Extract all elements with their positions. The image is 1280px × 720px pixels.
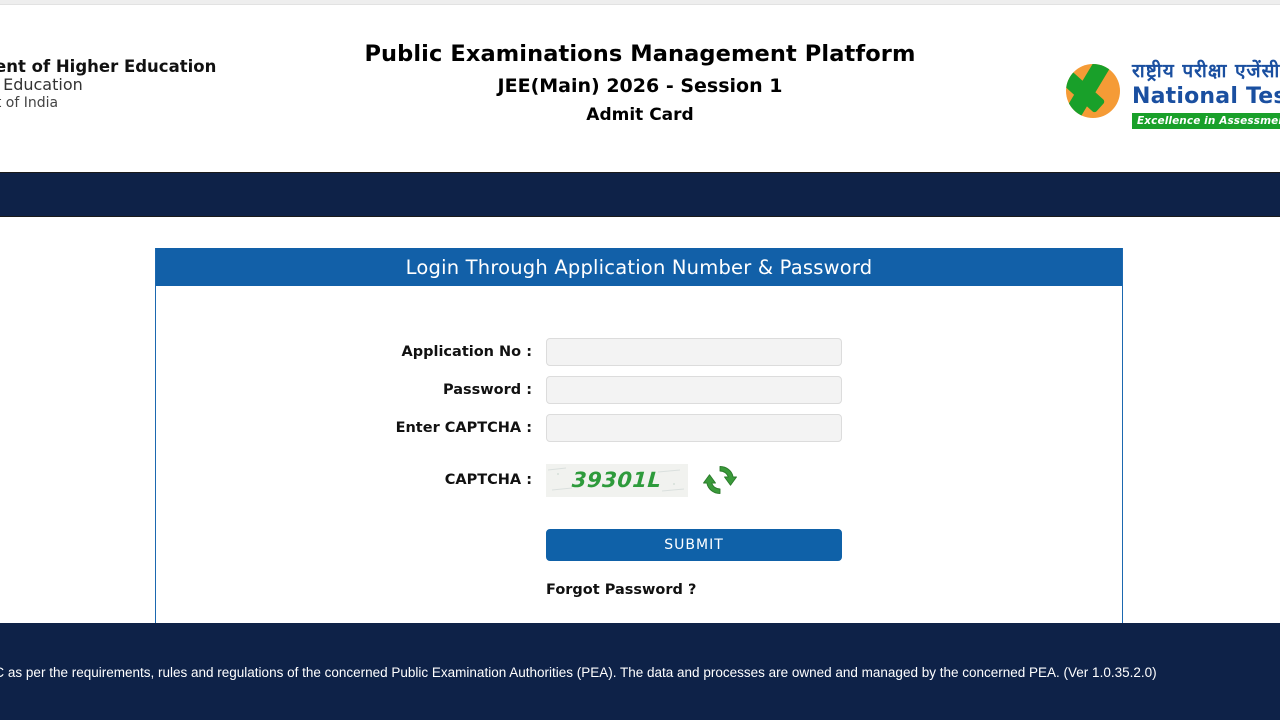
exam-name: JEE(Main) 2026 - Session 1	[240, 75, 1040, 97]
page-header: Department of Higher Education Ministry …	[0, 5, 1280, 167]
forgot-password-row: Forgot Password ?	[156, 579, 1122, 598]
enter-captcha-input[interactable]	[546, 414, 842, 442]
page-root: Department of Higher Education Ministry …	[0, 0, 1280, 720]
submit-button[interactable]: SUBMIT	[546, 529, 842, 561]
submit-row: SUBMIT	[156, 529, 1122, 561]
application-no-label: Application No :	[156, 344, 546, 360]
nta-branding: राष्ट्रीय परीक्षा एजेंसी National Testin…	[1062, 57, 1280, 147]
password-row: Password :	[156, 376, 1122, 404]
captcha-display-row: CAPTCHA : 39301L	[156, 462, 1122, 498]
captcha-label: CAPTCHA :	[156, 472, 546, 488]
nta-text-block: राष्ट्रीय परीक्षा एजेंसी National Testin…	[1132, 57, 1280, 129]
nta-check-emblem-icon	[1062, 60, 1124, 122]
login-form: Application No : Password : Enter CAPTCH…	[156, 286, 1122, 598]
org-line-2: Ministry of Education	[0, 76, 214, 95]
login-panel-title: Login Through Application Number & Passw…	[156, 248, 1122, 286]
org-line-3: Government of India	[0, 95, 214, 112]
nta-hindi-name: राष्ट्रीय परीक्षा एजेंसी	[1132, 57, 1280, 83]
login-panel: Login Through Application Number & Passw…	[155, 248, 1123, 648]
page-title: Public Examinations Management Platform	[240, 41, 1040, 67]
main-navbar[interactable]	[0, 172, 1280, 217]
org-line-1: Department of Higher Education	[0, 57, 214, 76]
ministry-branding: Department of Higher Education Ministry …	[0, 57, 214, 112]
captcha-code-text: 39301L	[571, 468, 662, 492]
nta-tagline: Excellence in Assessment	[1132, 113, 1280, 129]
header-title-block: Public Examinations Management Platform …	[240, 41, 1040, 125]
enter-captcha-label: Enter CAPTCHA :	[156, 420, 546, 436]
password-label: Password :	[156, 382, 546, 398]
content-area: Login Through Application Number & Passw…	[0, 218, 1280, 623]
forgot-password-link[interactable]: Forgot Password ?	[546, 582, 696, 598]
application-no-input[interactable]	[546, 338, 842, 366]
captcha-image: 39301L	[546, 464, 688, 497]
enter-captcha-row: Enter CAPTCHA :	[156, 414, 1122, 442]
password-input[interactable]	[546, 376, 842, 404]
page-subtitle: Admit Card	[240, 105, 1040, 125]
nta-english-name: National Testing Agency	[1132, 84, 1280, 109]
refresh-captcha-icon[interactable]	[702, 462, 738, 498]
footer-disclaimer: This application has been developed by N…	[0, 661, 1280, 686]
page-footer: This application has been developed by N…	[0, 623, 1280, 720]
application-no-row: Application No :	[156, 338, 1122, 366]
